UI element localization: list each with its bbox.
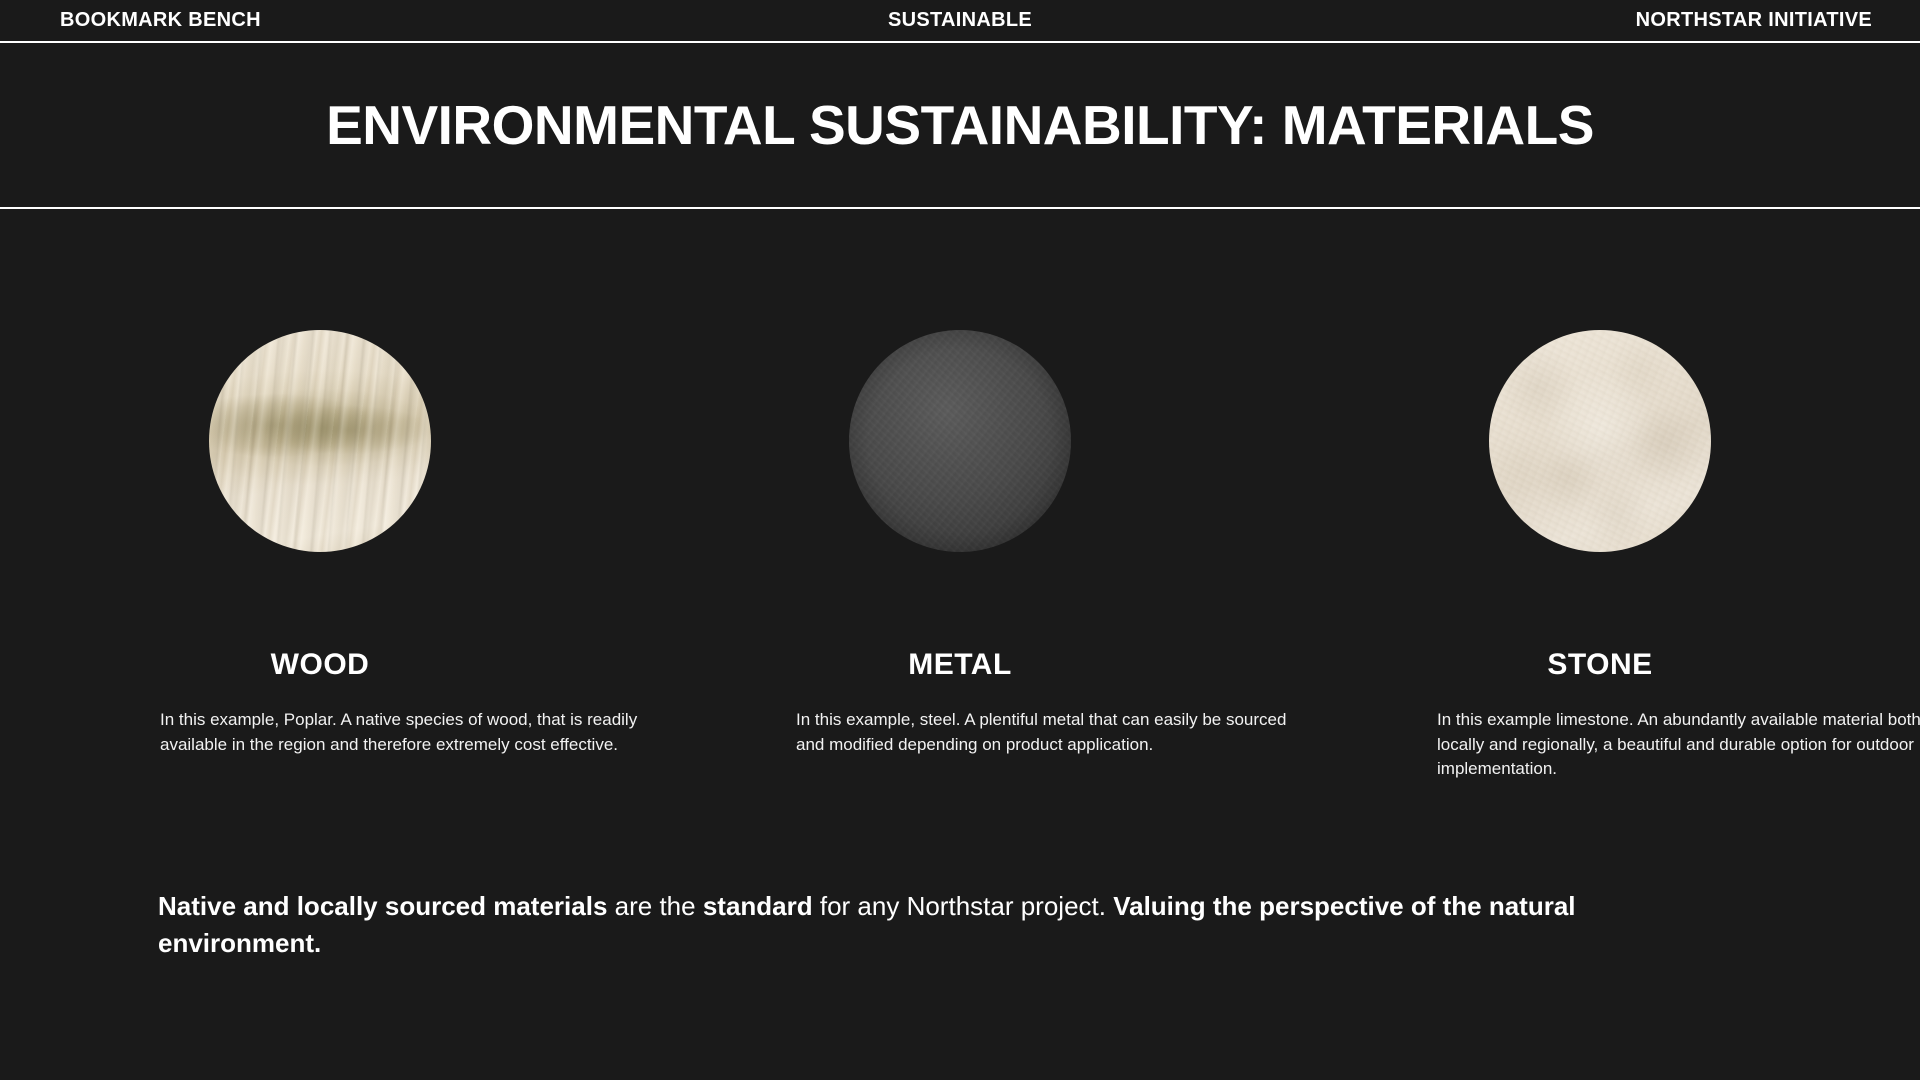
metal-texture-swatch <box>849 330 1071 552</box>
footnote-segment-3: for any Northstar project. <box>813 891 1114 921</box>
material-label-stone: STONE <box>1280 648 1920 682</box>
topbar-left-label: BOOKMARK BENCH <box>60 9 261 32</box>
material-description-wood: In this example, Poplar. A native specie… <box>160 708 660 757</box>
material-label-wood: WOOD <box>0 648 640 682</box>
wood-texture-swatch <box>209 330 431 552</box>
stone-texture-swatch <box>1489 330 1711 552</box>
footnote-segment-1: are the <box>607 891 702 921</box>
material-card-stone: STONE In this example limestone. An abun… <box>1280 330 1920 552</box>
material-description-metal: In this example, steel. A plentiful meta… <box>796 708 1296 757</box>
material-description-stone: In this example limestone. An abundantly… <box>1437 708 1920 782</box>
material-card-metal: METAL In this example, steel. A plentifu… <box>640 330 1280 552</box>
material-label-metal: METAL <box>640 648 1280 682</box>
title-band: ENVIRONMENTAL SUSTAINABILITY: MATERIALS <box>0 43 1920 207</box>
footnote-segment-0: Native and locally sourced materials <box>158 891 607 921</box>
footnote-segment-2: standard <box>703 891 813 921</box>
footnote-statement: Native and locally sourced materials are… <box>158 888 1718 962</box>
divider-below-title <box>0 207 1920 209</box>
topbar-right-label: NORTHSTAR INITIATIVE <box>1636 9 1872 32</box>
topbar-center-label: SUSTAINABLE <box>888 9 1032 32</box>
materials-row: WOOD In this example, Poplar. A native s… <box>0 330 1920 552</box>
page-title: ENVIRONMENTAL SUSTAINABILITY: MATERIALS <box>326 93 1594 157</box>
top-bar: BOOKMARK BENCH SUSTAINABLE NORTHSTAR INI… <box>0 0 1920 40</box>
material-card-wood: WOOD In this example, Poplar. A native s… <box>0 330 640 552</box>
